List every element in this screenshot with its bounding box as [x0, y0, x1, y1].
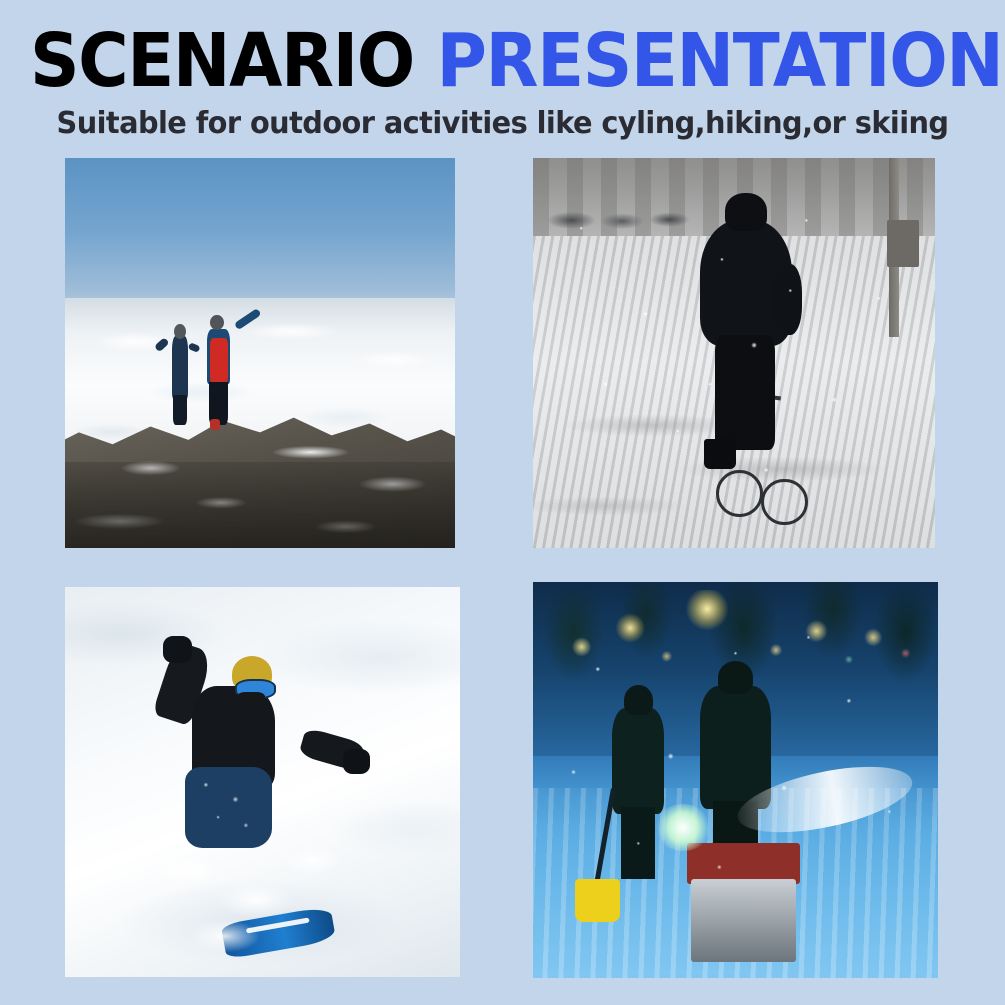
snowboarder-extended-glove — [343, 749, 370, 774]
title-word-scenario: SCENARIO — [30, 18, 414, 104]
photo-snow-clearing — [533, 582, 938, 978]
snowboarder-face — [237, 692, 264, 708]
photo-hiking — [65, 158, 455, 548]
snow-clearing-scene — [533, 582, 938, 978]
hiker-head — [174, 324, 186, 339]
title-word-presentation: PRESENTATION — [436, 18, 1002, 104]
photo-snowboarding — [65, 587, 460, 977]
page-title: SCENARIO PRESENTATION — [30, 22, 914, 100]
hiker-boot — [210, 419, 219, 430]
hiking-scene — [65, 158, 455, 548]
falling-snowflakes — [533, 158, 935, 548]
powder-spray — [120, 805, 381, 969]
cycling-scene — [533, 158, 935, 548]
page-subtitle: Suitable for outdoor activities like cyl… — [20, 106, 985, 141]
foreground-rock-shadow — [65, 462, 455, 548]
snowboarder-raised-glove — [163, 636, 192, 663]
red-backpack — [210, 338, 229, 384]
photo-cycling — [533, 158, 935, 548]
hiker-body — [172, 336, 189, 399]
snowboarding-scene — [65, 587, 460, 977]
hiker-legs — [173, 395, 187, 425]
falling-snowflakes — [533, 582, 938, 978]
sky — [65, 158, 455, 322]
hiker-red-pack-figure — [198, 314, 241, 423]
scenario-presentation-poster: SCENARIO PRESENTATION Suitable for outdo… — [0, 0, 1005, 1005]
hiker-blue-figure — [163, 322, 198, 423]
hiker-head — [210, 315, 224, 330]
